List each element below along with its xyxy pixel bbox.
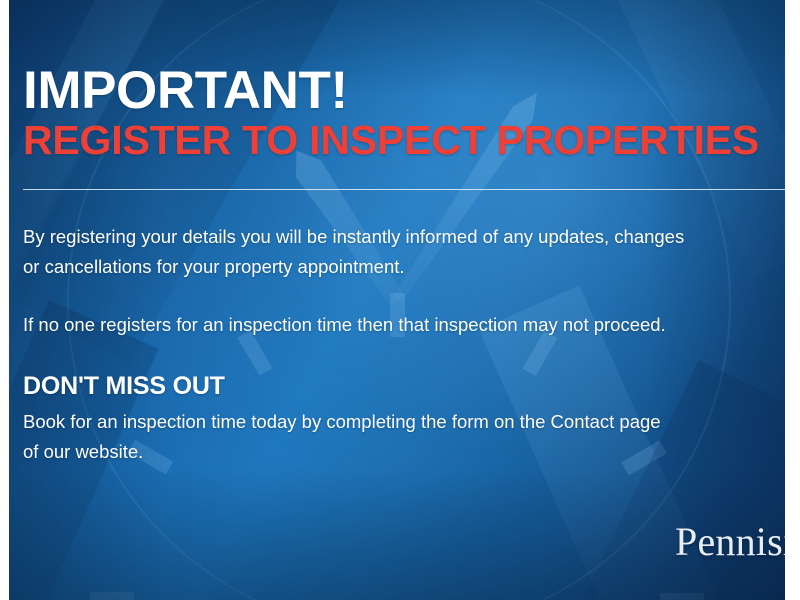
headline-block: IMPORTANT! REGISTER TO INSPECT PROPERTIE… <box>23 66 779 162</box>
poster-artwork-panel: IMPORTANT! REGISTER TO INSPECT PROPERTIE… <box>9 0 785 600</box>
body-paragraph-line-2: or cancellations for your property appoi… <box>23 252 785 282</box>
headline-secondary: REGISTER TO INSPECT PROPERTIES <box>23 119 779 162</box>
subheading-dont-miss-out: DON'T MISS OUT <box>23 372 785 401</box>
body-paragraph-line-3: If no one registers for an inspection ti… <box>23 310 785 340</box>
headline-primary: IMPORTANT! <box>23 66 779 117</box>
poster-content: IMPORTANT! REGISTER TO INSPECT PROPERTIE… <box>9 0 785 600</box>
closing-line-1: Book for an inspection time today by com… <box>23 407 785 437</box>
closing-line-2: of our website. <box>23 437 785 467</box>
body-block: By registering your details you will be … <box>23 222 785 467</box>
headline-divider <box>23 189 785 190</box>
body-paragraph-line-1: By registering your details you will be … <box>23 222 785 252</box>
poster-root: IMPORTANT! REGISTER TO INSPECT PROPERTIE… <box>0 0 800 600</box>
pennisi-logo: Pennisi <box>675 522 785 562</box>
